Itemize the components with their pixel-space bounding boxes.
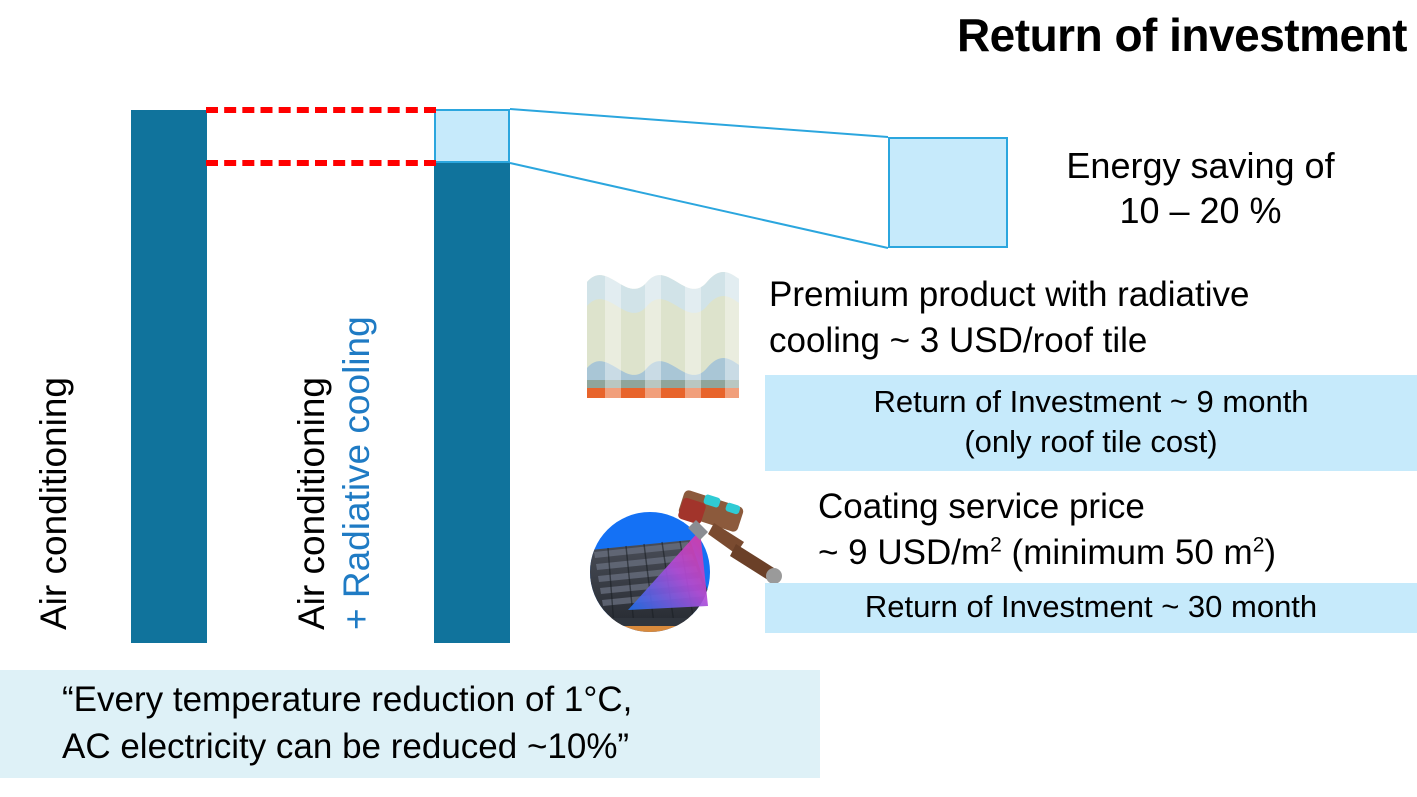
energy-saving-line2: 10 – 20 % — [1028, 188, 1373, 233]
energy-saving-label: Energy saving of 10 – 20 % — [1028, 143, 1373, 233]
coating-price-sup1: 2 — [990, 534, 1002, 557]
guide-line-top-reference — [206, 107, 436, 113]
guide-line-saving-reference — [206, 160, 436, 166]
energy-saving-zoom-box — [888, 137, 1008, 248]
spray-coating-roof-icon — [568, 468, 793, 648]
bar-air-conditioning — [131, 110, 207, 643]
premium-product-line2: cooling ~ 3 USD/roof tile — [769, 318, 1409, 364]
roi-roof-tile-line1: Return of Investment ~ 9 month — [765, 382, 1417, 422]
roi-roof-tile-line2: (only roof tile cost) — [765, 422, 1417, 462]
quote-text: “Every temperature reduction of 1°C, AC … — [62, 676, 802, 771]
quote-line1: “Every temperature reduction of 1°C, — [62, 676, 802, 723]
premium-product-description: Premium product with radiative cooling ~… — [769, 272, 1409, 363]
coating-price-middle: (minimum 50 m — [1002, 533, 1253, 572]
bar-segment-energy-saving — [434, 109, 510, 163]
quote-line2: AC electricity can be reduced ~10%” — [62, 723, 802, 770]
bar-air-conditioning-plus-radiative-cooling — [434, 163, 510, 643]
energy-saving-line1: Energy saving of — [1028, 143, 1373, 188]
coating-price-sup2: 2 — [1253, 534, 1265, 557]
coating-service-line1: Coating service price — [818, 484, 1417, 530]
bar-label-combined-line1-text: Air conditioning — [293, 377, 330, 630]
premium-product-line1: Premium product with radiative — [769, 272, 1409, 318]
coating-price-suffix: ) — [1264, 533, 1276, 572]
coating-service-description: Coating service price ~ 9 USD/m2 (minimu… — [818, 484, 1417, 576]
bar-label-combined-line2-text: + Radiative cooling — [338, 316, 375, 630]
roi-coating-line1: Return of Investment ~ 30 month — [765, 587, 1417, 627]
corrugated-roof-tile-icon — [583, 268, 743, 398]
roi-coating-highlight: Return of Investment ~ 30 month — [765, 583, 1417, 633]
bar-label-air-conditioning-text: Air conditioning — [35, 377, 72, 630]
roi-roof-tile-highlight: Return of Investment ~ 9 month (only roo… — [765, 375, 1417, 471]
coating-price-prefix: ~ 9 USD/m — [818, 533, 990, 572]
coating-service-line2: ~ 9 USD/m2 (minimum 50 m2) — [818, 530, 1417, 576]
page-title: Return of investment — [957, 8, 1407, 62]
